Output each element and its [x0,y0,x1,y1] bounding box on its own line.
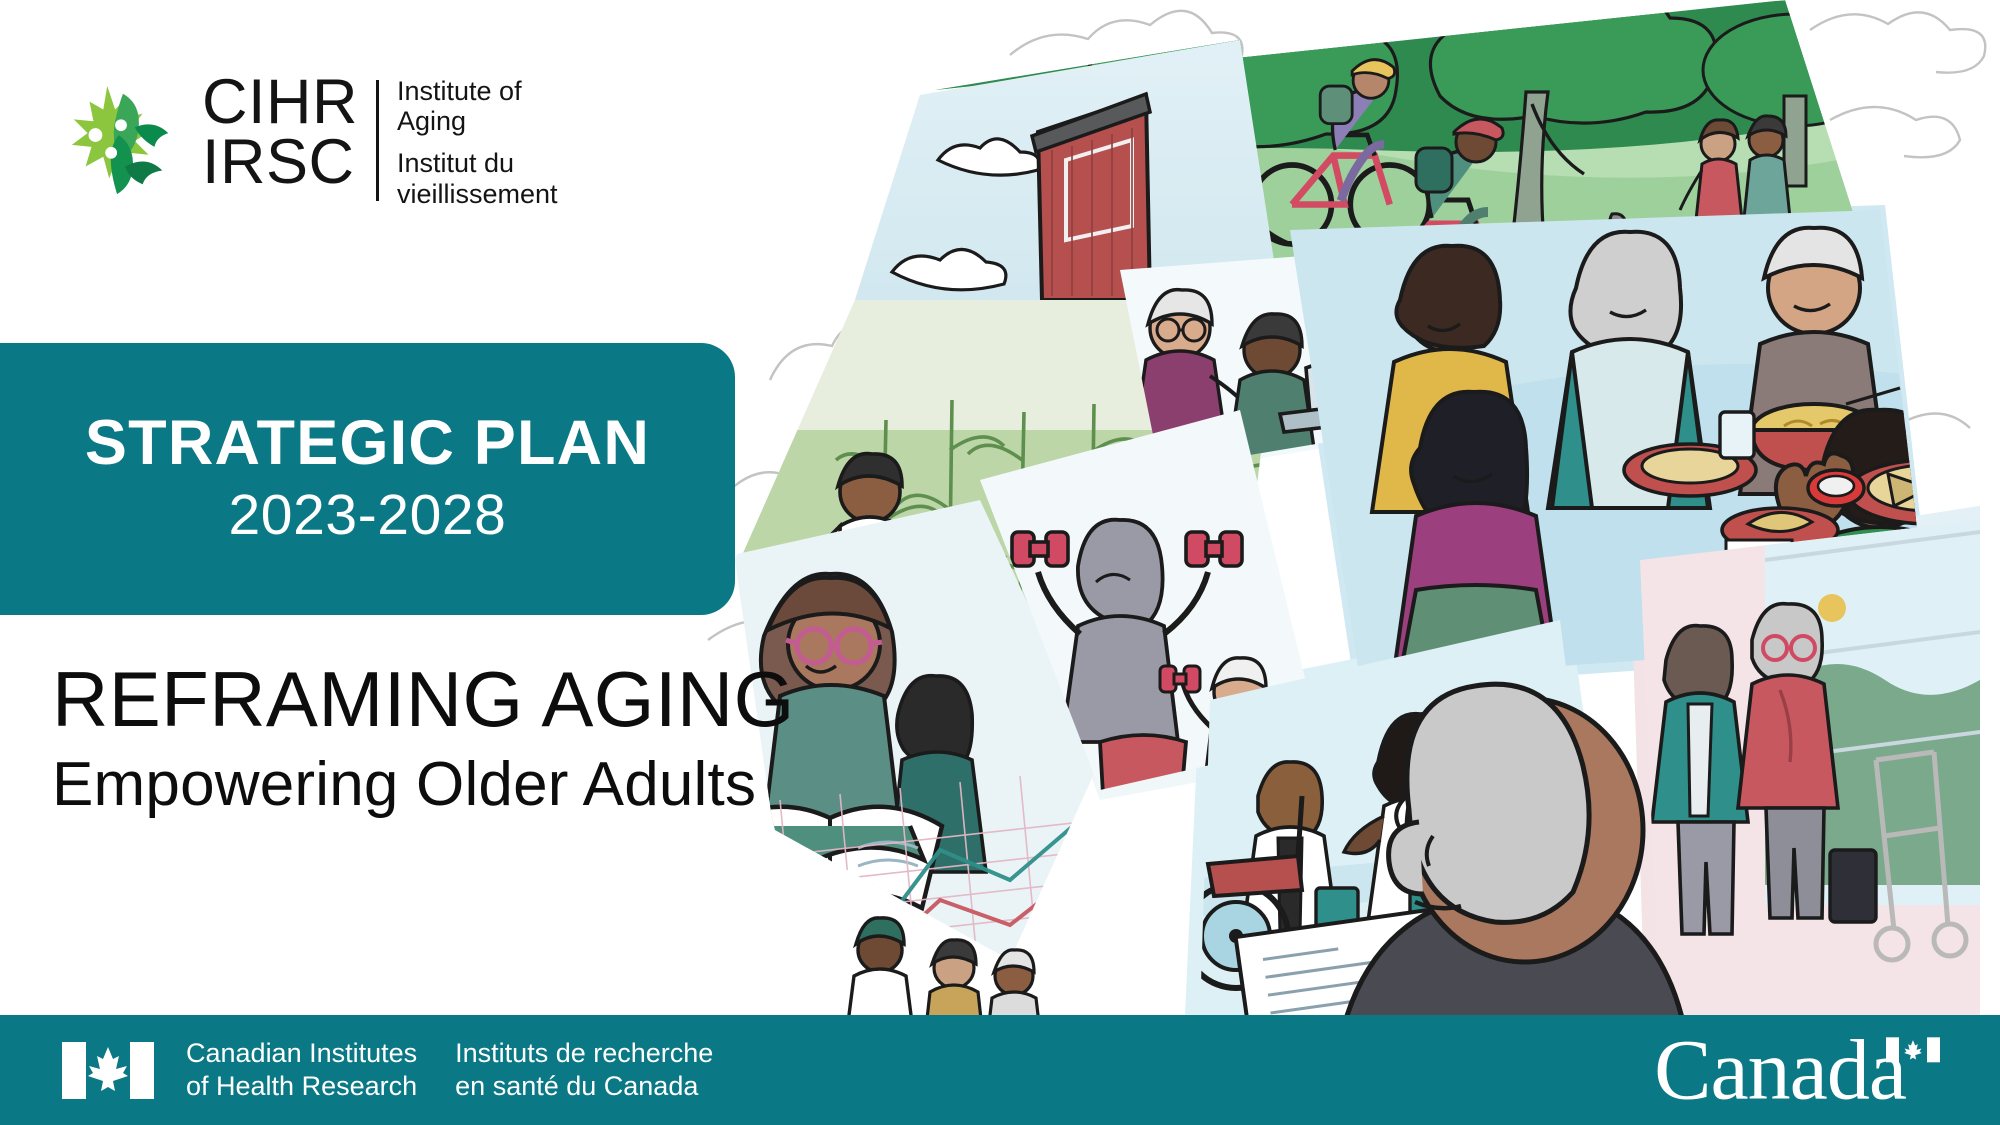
logo-institute-en: Institute of Aging [397,76,558,136]
poster-page: CIHR IRSC Institute of Aging Institut du… [0,0,2000,1125]
footer-org-fr-line1: Instituts de recherche [455,1037,713,1070]
logo-institute-names: Institute of Aging Institut du vieilliss… [397,72,558,209]
cihr-maple-leaf-people-icon [62,80,180,198]
page-subtitle: Empowering Older Adults [52,752,795,819]
page-title: REFRAMING AGING [52,660,795,738]
footer-org-en: Canadian Institutes of Health Research [186,1037,417,1103]
footer-org-fr: Instituts de recherche en santé du Canad… [455,1037,713,1103]
logo-institute-fr: Institut du vieillissement [397,148,558,208]
left-content-column: CIHR IRSC Institute of Aging Institut du… [0,0,880,1015]
logo-acronym-fr: IRSC [202,132,358,192]
footer-org-en-line1: Canadian Institutes [186,1037,417,1070]
logo-institute-fr-line2: vieillissement [397,179,558,209]
strategic-plan-years: 2023-2028 [229,482,507,548]
logo-institute-en-line2: Aging [397,106,558,136]
logo-divider [376,80,379,201]
government-footer-bar: Canadian Institutes of Health Research I… [0,1015,2000,1125]
logo-institute-en-line1: Institute of [397,76,558,106]
footer-org-signature: Canadian Institutes of Health Research I… [62,1037,713,1103]
cihr-irsc-institute-of-aging-logo: CIHR IRSC Institute of Aging Institut du… [62,72,558,209]
footer-org-fr-line2: en santé du Canada [455,1070,713,1103]
canada-flag-icon [62,1042,154,1099]
footer-org-en-line2: of Health Research [186,1070,417,1103]
logo-acronyms: CIHR IRSC [202,72,358,193]
logo-acronym-en: CIHR [202,72,358,132]
strategic-plan-banner: STRATEGIC PLAN 2023-2028 [0,343,735,615]
strategic-plan-title: STRATEGIC PLAN [85,410,650,477]
canada-wordmark-flag-icon [1886,1037,1940,1062]
headline-block: REFRAMING AGING Empowering Older Adults [52,660,795,819]
canada-wordmark: Canada [1654,1031,1940,1108]
footer-org-names: Canadian Institutes of Health Research I… [186,1037,713,1103]
logo-institute-fr-line1: Institut du [397,148,558,178]
canada-wordmark-text: Canada [1654,1031,1906,1108]
